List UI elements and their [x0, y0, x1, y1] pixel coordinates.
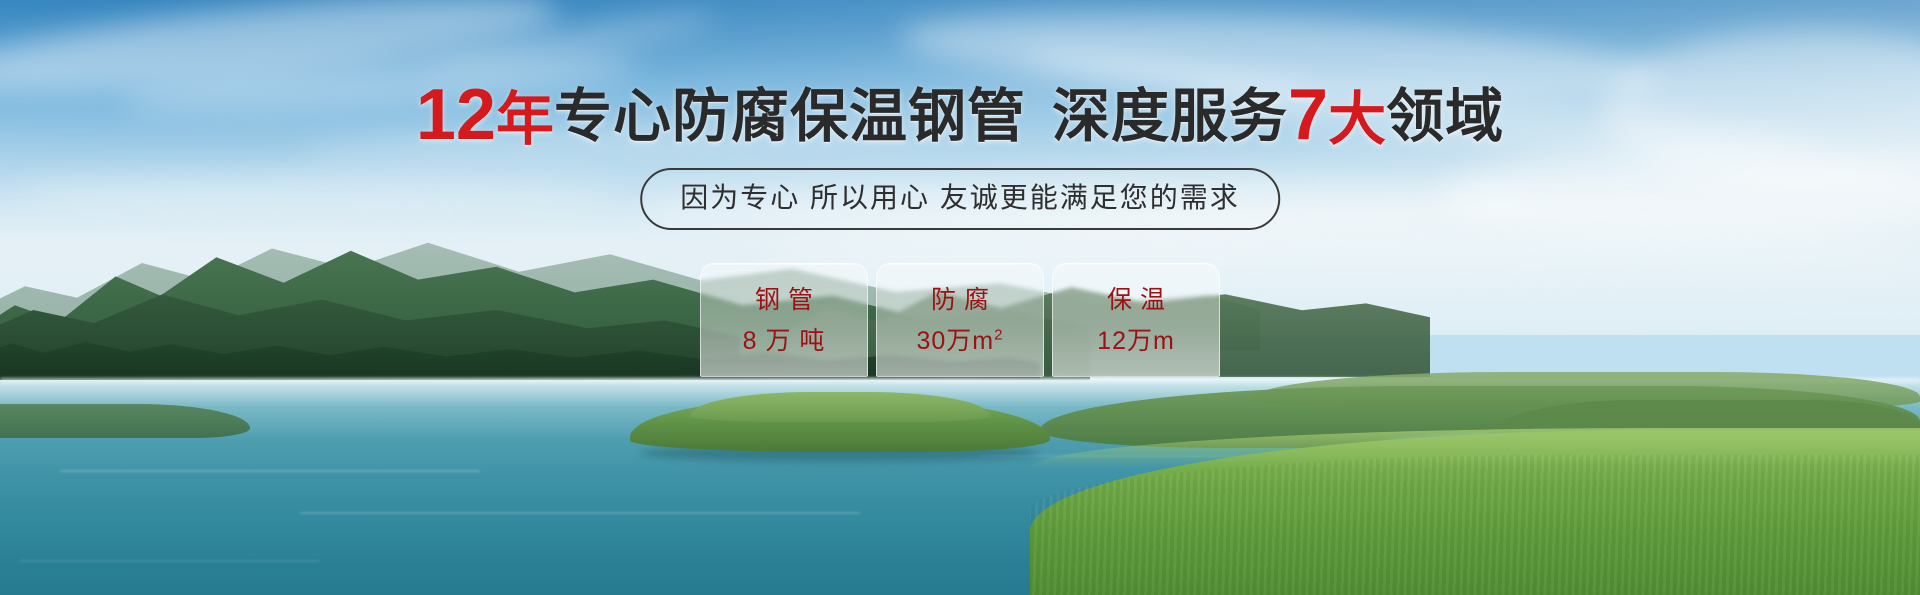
banner-content: 12年专心防腐保温钢管深度服务7大领域 因为专心 所以用心 友诚更能满足您的需求… — [0, 0, 1920, 595]
headline-fields-number: 7 — [1288, 75, 1328, 155]
stat-card-title: 防腐 — [923, 284, 997, 316]
subtitle-text: 因为专心 所以用心 友诚更能满足您的需求 — [680, 182, 1240, 213]
subtitle-pill: 因为专心 所以用心 友诚更能满足您的需求 — [640, 168, 1280, 230]
headline: 12年专心防腐保温钢管深度服务7大领域 — [0, 82, 1920, 153]
stat-card-value: 30万m2 — [917, 326, 1004, 356]
stat-card-value-main: 8 万 吨 — [743, 327, 826, 355]
stat-card-value: 12万m — [1097, 326, 1175, 356]
stat-card-title: 保温 — [1099, 284, 1173, 316]
headline-service-text: 深度服务 — [1052, 84, 1288, 149]
headline-fields-text: 领域 — [1386, 84, 1504, 149]
hero-banner: 12年专心防腐保温钢管深度服务7大领域 因为专心 所以用心 友诚更能满足您的需求… — [0, 0, 1920, 595]
stat-card-insulation[interactable]: 保温 12万m — [1052, 263, 1220, 377]
headline-years-unit: 年 — [496, 87, 554, 152]
headline-fields-unit: 大 — [1328, 87, 1386, 152]
stat-card-value-main: 12万m — [1097, 327, 1175, 355]
stat-card-value-superscript: 2 — [994, 327, 1003, 344]
stat-card-anticorrosion[interactable]: 防腐 30万m2 — [876, 263, 1044, 377]
stat-card-value-main: 30万m — [917, 327, 995, 355]
stat-card-steel-pipe[interactable]: 钢管 8 万 吨 — [700, 263, 868, 377]
stat-card-value: 8 万 吨 — [743, 326, 826, 356]
stat-card-title: 钢管 — [747, 284, 821, 316]
headline-years-number: 12 — [416, 75, 496, 155]
headline-main-text: 专心防腐保温钢管 — [554, 84, 1026, 149]
stats-card-group: 钢管 8 万 吨 防腐 30万m2 保温 12万m — [700, 263, 1220, 377]
